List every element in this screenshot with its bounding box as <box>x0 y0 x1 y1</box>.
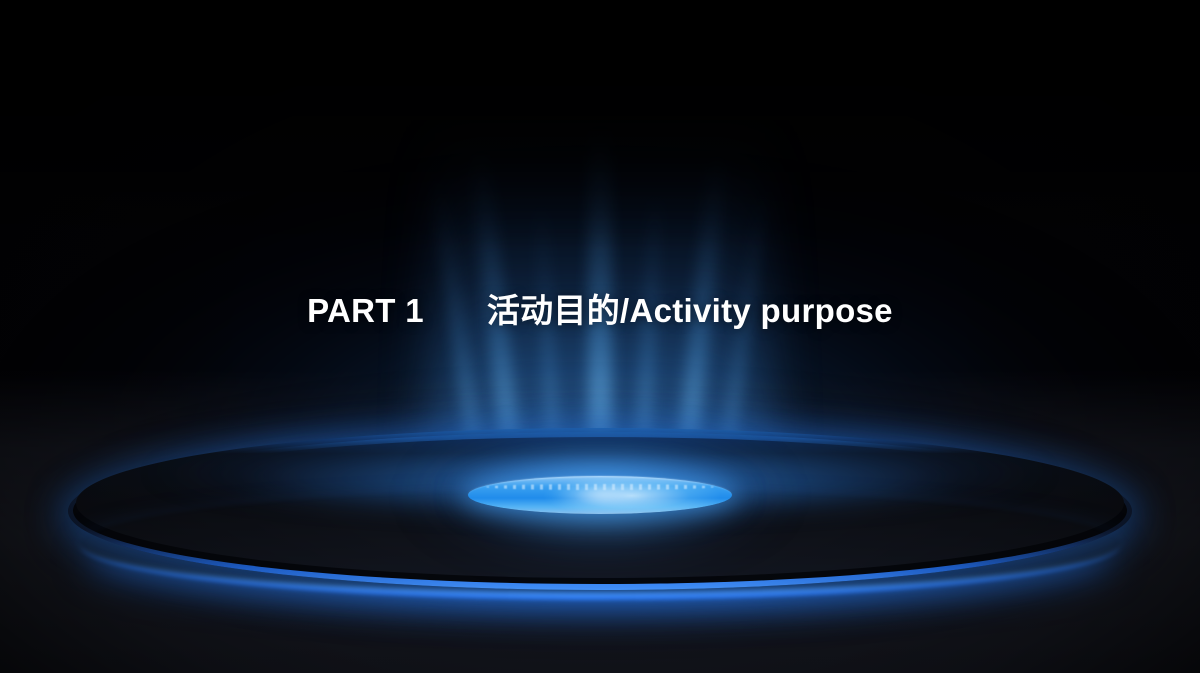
top-fade-overlay <box>0 0 1200 250</box>
page-title: PART 1 活动目的/Activity purpose <box>0 284 1200 332</box>
section-heading: 活动目的/Activity purpose <box>487 284 893 332</box>
slide-canvas: PART 1 活动目的/Activity purpose <box>0 0 1200 673</box>
part-label: PART 1 <box>307 292 424 330</box>
